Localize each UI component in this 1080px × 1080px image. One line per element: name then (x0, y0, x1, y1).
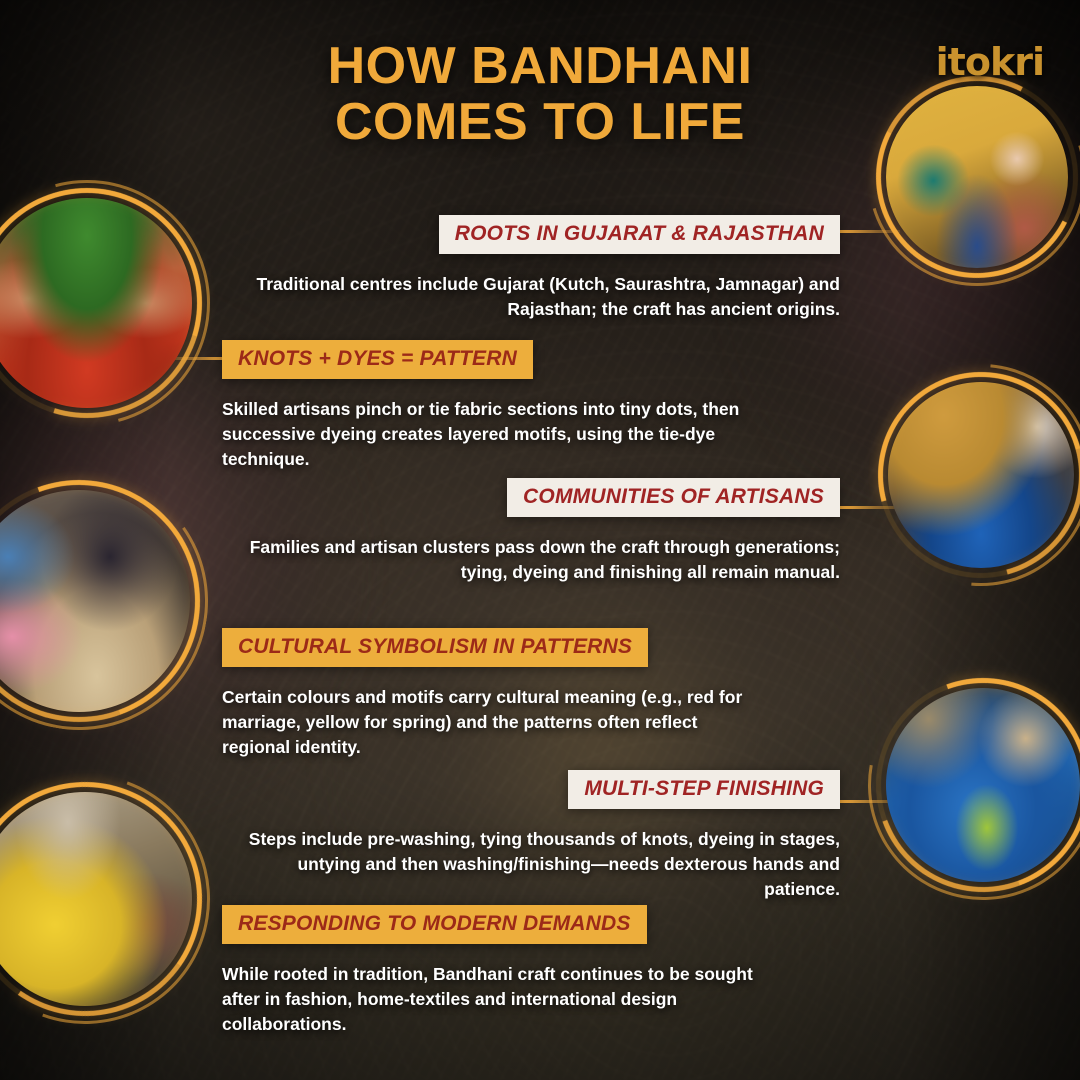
photo-artisan-women-knotting (0, 490, 190, 712)
section-roots-label: ROOTS IN GUJARAT & RAJASTHAN (439, 215, 840, 254)
section-roots: ROOTS IN GUJARAT & RAJASTHAN Traditional… (240, 215, 840, 322)
section-communities: COMMUNITIES OF ARTISANS Families and art… (240, 478, 840, 585)
photo-lifting-yellow-fabric-image (0, 792, 192, 1006)
infographic-poster: HOW BANDHANI COMES TO LIFE itokri (0, 0, 1080, 1080)
section-finishing-body: Steps include pre-washing, tying thousan… (240, 827, 840, 902)
section-modern-label: RESPONDING TO MODERN DEMANDS (222, 905, 647, 944)
brand-logo-text: itokri (936, 40, 1044, 84)
section-modern: RESPONDING TO MODERN DEMANDS While roote… (222, 905, 822, 1037)
photo-dyer-blue-tub-image (888, 382, 1074, 568)
section-knots-label: KNOTS + DYES = PATTERN (222, 340, 533, 379)
section-modern-body: While rooted in tradition, Bandhani craf… (222, 962, 767, 1037)
section-symbolism-body: Certain colours and motifs carry cultura… (222, 685, 762, 760)
photo-dyer-blue-tub (888, 382, 1074, 568)
section-symbolism-label: CULTURAL SYMBOLISM IN PATTERNS (222, 628, 648, 667)
page-title: HOW BANDHANI COMES TO LIFE (0, 38, 1080, 150)
title-line-1: HOW BANDHANI (328, 37, 753, 95)
section-symbolism: CULTURAL SYMBOLISM IN PATTERNS Certain c… (222, 628, 822, 760)
photo-lifting-yellow-fabric (0, 792, 192, 1006)
brand-logo[interactable]: itokri (936, 40, 1044, 84)
title-line-2: COMES TO LIFE (0, 94, 1080, 150)
photo-indigo-vat-dipping (886, 688, 1080, 882)
section-communities-label: COMMUNITIES OF ARTISANS (507, 478, 840, 517)
section-knots: KNOTS + DYES = PATTERN Skilled artisans … (222, 340, 782, 472)
section-finishing: MULTI-STEP FINISHING Steps include pre-w… (240, 770, 840, 902)
photo-hands-tying-red-fabric-image (0, 198, 192, 408)
photo-indigo-vat-dipping-image (886, 688, 1080, 882)
section-finishing-label: MULTI-STEP FINISHING (568, 770, 840, 809)
photo-hands-tying-red-fabric (0, 198, 192, 408)
section-communities-body: Families and artisan clusters pass down … (240, 535, 840, 585)
photo-artisan-women-knotting-image (0, 490, 190, 712)
section-knots-body: Skilled artisans pinch or tie fabric sec… (222, 397, 742, 472)
section-roots-body: Traditional centres include Gujarat (Kut… (240, 272, 840, 322)
